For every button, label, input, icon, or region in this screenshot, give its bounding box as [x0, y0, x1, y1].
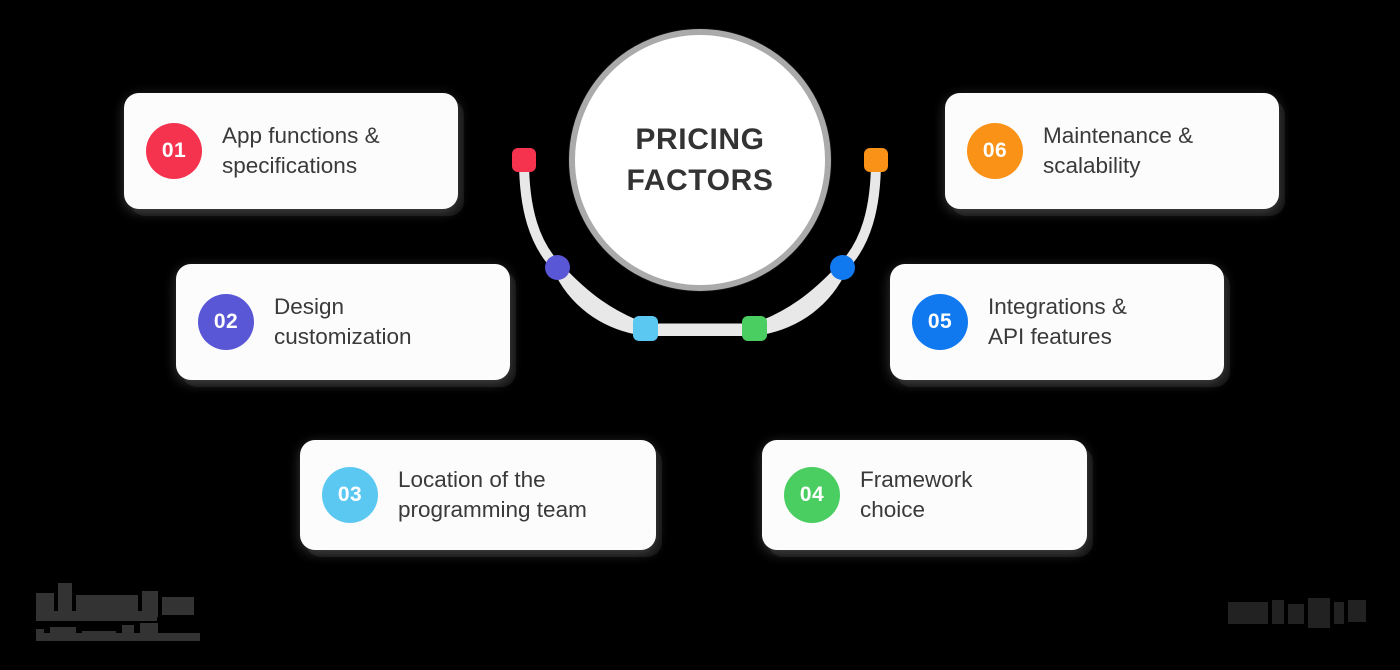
factor-card-06[interactable]: 06 Maintenance & scalability — [945, 93, 1279, 209]
factor-label-03-line-2: programming team — [398, 495, 587, 525]
connector-marker-05 — [830, 255, 855, 280]
factor-label-02: Design customization — [274, 292, 412, 352]
connector-marker-04 — [742, 316, 767, 341]
logo-watermark-left — [36, 583, 201, 641]
factor-card-03[interactable]: 03 Location of the programming team — [300, 440, 656, 550]
factor-badge-01: 01 — [146, 123, 202, 179]
infographic-canvas: PRICING FACTORS 01 App functions & speci… — [0, 0, 1400, 670]
logo-watermark-right — [1228, 598, 1368, 630]
factor-label-01: App functions & specifications — [222, 121, 380, 181]
factor-label-05: Integrations & API features — [988, 292, 1127, 352]
factor-label-03-line-1: Location of the — [398, 465, 587, 495]
central-hub: PRICING FACTORS — [569, 29, 831, 291]
factor-label-03: Location of the programming team — [398, 465, 587, 525]
connector-marker-06 — [864, 148, 888, 172]
factor-label-04: Framework choice — [860, 465, 973, 525]
factor-card-04[interactable]: 04 Framework choice — [762, 440, 1087, 550]
connector-marker-03 — [633, 316, 658, 341]
factor-badge-05: 05 — [912, 294, 968, 350]
factor-label-04-line-2: choice — [860, 495, 973, 525]
factor-card-05[interactable]: 05 Integrations & API features — [890, 264, 1224, 380]
factor-label-02-line-2: customization — [274, 322, 412, 352]
factor-label-01-line-2: specifications — [222, 151, 380, 181]
factor-label-02-line-1: Design — [274, 292, 412, 322]
factor-card-01[interactable]: 01 App functions & specifications — [124, 93, 458, 209]
factor-badge-04: 04 — [784, 467, 840, 523]
connector-marker-02 — [545, 255, 570, 280]
factor-label-05-line-1: Integrations & — [988, 292, 1127, 322]
factor-label-05-line-2: API features — [988, 322, 1127, 352]
factor-label-06-line-1: Maintenance & — [1043, 121, 1193, 151]
factor-label-01-line-1: App functions & — [222, 121, 380, 151]
hub-title-line-1: PRICING — [635, 119, 764, 160]
connector-marker-01 — [512, 148, 536, 172]
factor-badge-03: 03 — [322, 467, 378, 523]
factor-badge-02: 02 — [198, 294, 254, 350]
factor-label-04-line-1: Framework — [860, 465, 973, 495]
factor-card-02[interactable]: 02 Design customization — [176, 264, 510, 380]
hub-title-line-2: FACTORS — [627, 160, 774, 201]
factor-label-06-line-2: scalability — [1043, 151, 1193, 181]
factor-badge-06: 06 — [967, 123, 1023, 179]
factor-label-06: Maintenance & scalability — [1043, 121, 1193, 181]
